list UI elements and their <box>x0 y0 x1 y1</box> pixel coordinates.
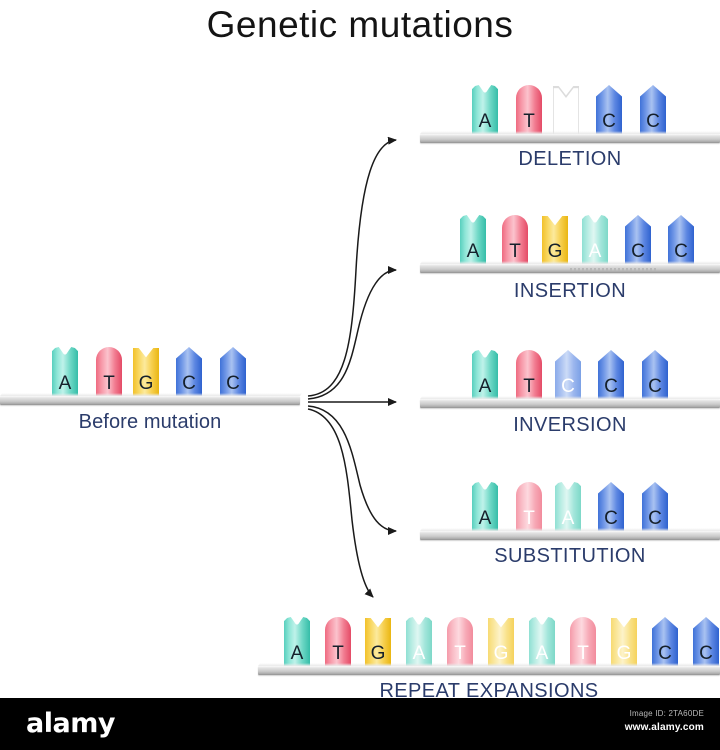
base-letter: C <box>668 242 694 261</box>
caption-inversion: INVERSION <box>420 414 720 437</box>
insertion-gap-marker <box>570 268 656 271</box>
alamy-logo: alamy <box>26 710 115 737</box>
footer-meta: Image ID: 2TA60DE www.alamy.com <box>625 707 704 735</box>
base-G: G <box>365 617 391 669</box>
base-T: T <box>96 347 122 399</box>
row-before-mutation: A T G C C <box>0 333 300 405</box>
row-deletion: A T G C C <box>420 71 720 143</box>
base-track-repeat: A T G A T G A <box>258 607 720 669</box>
base-track-insertion: A T G A C C <box>420 205 720 267</box>
base-letter: T <box>502 242 528 261</box>
base-T: T <box>516 482 542 534</box>
base-C: C <box>642 350 668 402</box>
base-letter: C <box>555 377 581 396</box>
base-letter: T <box>447 644 473 663</box>
row-insertion: A T G A C C <box>420 201 720 273</box>
base-letter: A <box>529 644 555 663</box>
base-C: C <box>598 350 624 402</box>
base-letter: A <box>284 644 310 663</box>
base-letter: T <box>516 377 542 396</box>
base-letter: C <box>642 509 668 528</box>
base-letter: T <box>570 644 596 663</box>
base-letter: T <box>325 644 351 663</box>
arrow-to-deletion <box>308 140 396 396</box>
base-T: T <box>502 215 528 267</box>
caption-before-mutation: Before mutation <box>0 411 300 434</box>
diagram-canvas: Genetic mutations A T <box>0 0 720 750</box>
base-letter: A <box>555 509 581 528</box>
base-repeat-G: G <box>611 617 637 669</box>
base-inserted-A: A <box>582 215 608 267</box>
row-repeat-expansions: A T G A T G A <box>258 603 720 675</box>
watermark-bar: alamy Image ID: 2TA60DE www.alamy.com <box>0 698 720 750</box>
base-letter: G <box>365 644 391 663</box>
base-letter: G <box>553 112 579 131</box>
base-letter: A <box>460 242 486 261</box>
base-C: C <box>693 617 719 669</box>
base-letter: C <box>693 644 719 663</box>
base-letter: G <box>133 374 159 393</box>
base-track-before: A T G C C <box>0 337 300 399</box>
base-letter: A <box>52 374 78 393</box>
base-letter: C <box>652 644 678 663</box>
base-C: C <box>176 347 202 399</box>
image-id-text: Image ID: 2TA60DE <box>625 707 704 720</box>
base-letter: C <box>642 377 668 396</box>
base-repeat-T: T <box>447 617 473 669</box>
base-letter: A <box>472 377 498 396</box>
base-substituted-A: A <box>555 482 581 534</box>
base-letter: T <box>516 112 542 131</box>
base-track-deletion: A T G C C <box>420 75 720 137</box>
base-C: C <box>596 85 622 137</box>
base-repeat-A: A <box>529 617 555 669</box>
base-letter: G <box>542 242 568 261</box>
base-letter: G <box>611 644 637 663</box>
base-T: T <box>516 85 542 137</box>
dna-rail <box>0 396 300 405</box>
base-letter: T <box>96 374 122 393</box>
base-C: C <box>640 85 666 137</box>
base-letter: C <box>625 242 651 261</box>
base-letter: A <box>472 509 498 528</box>
base-track-inversion: A T C C C <box>420 340 720 402</box>
base-letter: T <box>516 509 542 528</box>
arrow-to-repeat <box>308 409 373 597</box>
caption-insertion: INSERTION <box>420 280 720 303</box>
base-A: A <box>472 482 498 534</box>
base-C: C <box>598 482 624 534</box>
dna-rail <box>420 531 720 540</box>
row-substitution: A T A C C <box>420 468 720 540</box>
base-letter: C <box>598 509 624 528</box>
base-letter: A <box>406 644 432 663</box>
base-A: A <box>472 85 498 137</box>
alamy-url: www.alamy.com <box>625 720 704 735</box>
dna-rail <box>420 399 720 408</box>
base-T: T <box>325 617 351 669</box>
base-letter: C <box>598 377 624 396</box>
arrow-to-substitution <box>308 406 396 531</box>
base-track-substitution: A T A C C <box>420 472 720 534</box>
base-repeat-A: A <box>406 617 432 669</box>
base-letter: C <box>640 112 666 131</box>
base-G: G <box>133 347 159 399</box>
base-A: A <box>460 215 486 267</box>
row-inversion: A T C C C <box>420 336 720 408</box>
base-C: C <box>642 482 668 534</box>
base-T: T <box>516 350 542 402</box>
dna-rail <box>420 134 720 143</box>
base-letter: C <box>596 112 622 131</box>
base-letter: A <box>472 112 498 131</box>
caption-substitution: SUBSTITUTION <box>420 545 720 568</box>
base-C: C <box>668 215 694 267</box>
base-A: A <box>52 347 78 399</box>
base-repeat-G: G <box>488 617 514 669</box>
base-deleted-slot: G <box>553 85 579 137</box>
base-C: C <box>220 347 246 399</box>
caption-deletion: DELETION <box>420 148 720 171</box>
dna-rail <box>258 666 720 675</box>
base-letter: C <box>176 374 202 393</box>
base-repeat-T: T <box>570 617 596 669</box>
base-A: A <box>284 617 310 669</box>
base-C: C <box>625 215 651 267</box>
base-G: G <box>542 215 568 267</box>
arrow-to-insertion <box>308 270 396 399</box>
base-letter: C <box>220 374 246 393</box>
base-letter: A <box>582 242 608 261</box>
base-A: A <box>472 350 498 402</box>
base-inverted-C: C <box>555 350 581 402</box>
base-C: C <box>652 617 678 669</box>
base-letter: G <box>488 644 514 663</box>
